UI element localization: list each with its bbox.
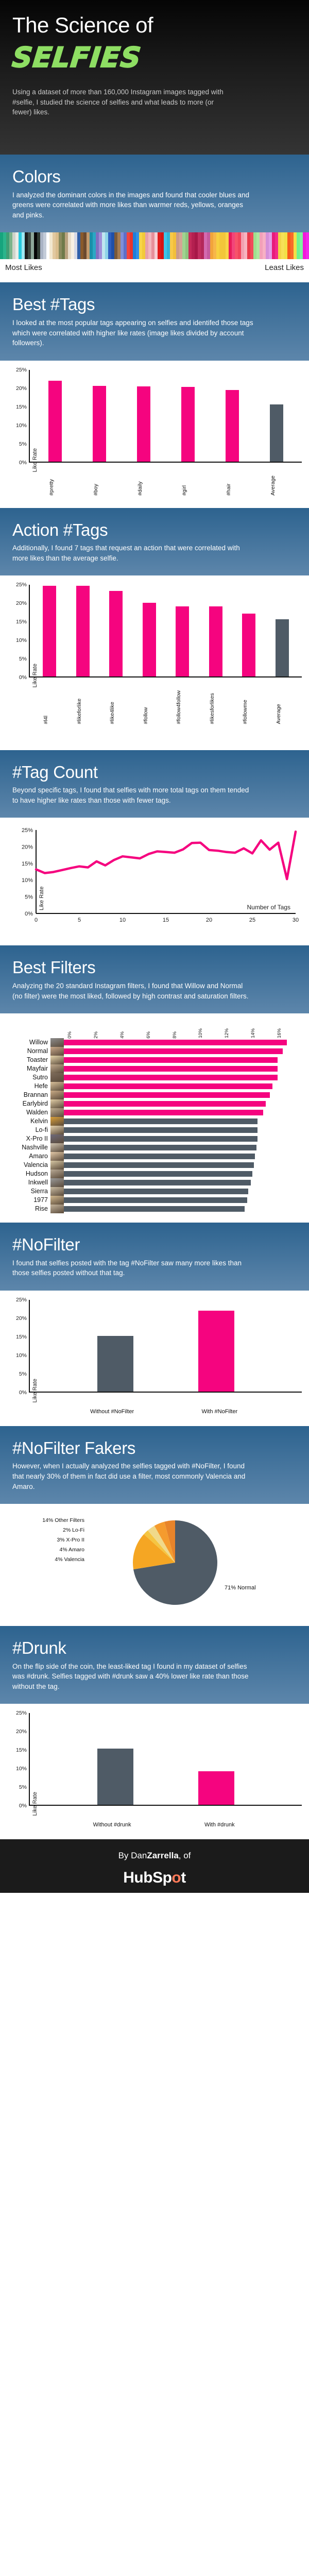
filter-bar xyxy=(64,1066,278,1072)
x-labels-drunk: Without #drunkWith #drunk xyxy=(7,1819,302,1836)
colors-section: Colors I analyzed the dominant colors in… xyxy=(0,155,309,232)
filter-row: Valencia xyxy=(6,1161,303,1170)
best-tags-body: I looked at the most popular tags appear… xyxy=(12,318,254,348)
filter-bar xyxy=(64,1127,257,1133)
filter-name: Sutro xyxy=(6,1073,50,1082)
filter-row: Nashville xyxy=(6,1143,303,1152)
bar xyxy=(226,390,239,462)
filter-bar xyxy=(64,1197,247,1203)
axis-tick: 5% xyxy=(19,1784,27,1790)
filter-name: Walden xyxy=(6,1108,50,1117)
y-axis-label-nofilter: Like Rate xyxy=(32,1379,38,1402)
bar xyxy=(97,1749,133,1805)
x-labels-best-tags: #pretty#boy#daily#girl#hairAverage xyxy=(7,476,302,496)
nofilter-fakers-chart: 14% Other Filters2% Lo-Fi3% X-Pro II4% A… xyxy=(0,1504,309,1626)
filter-bar xyxy=(64,1162,254,1168)
x-tick-label: 16% xyxy=(277,1028,282,1038)
axis-tick: 10% xyxy=(16,1766,27,1772)
filter-track xyxy=(64,1082,303,1091)
filter-track xyxy=(64,1047,303,1056)
filter-track xyxy=(64,1143,303,1152)
x-tick-label: 8% xyxy=(172,1031,178,1039)
y-axis-label-best-tags: Like Rate xyxy=(32,448,38,472)
filter-name: Valencia xyxy=(6,1161,50,1170)
filter-track xyxy=(64,1056,303,1064)
author-prefix: By Dan xyxy=(118,1851,147,1860)
filter-thumbnail xyxy=(50,1099,64,1108)
best-filters-chart: 0%2%4%6%8%10%12%14%16% WillowNormalToast… xyxy=(0,1013,309,1223)
action-tags-section: Action #Tags Additionally, I found 7 tag… xyxy=(0,508,309,576)
axis-tick: 15% xyxy=(16,619,27,625)
filter-thumbnail xyxy=(50,1064,64,1073)
axis-tick: 20 xyxy=(206,917,212,923)
x-tick-label: 12% xyxy=(224,1028,230,1038)
filter-name: Amaro xyxy=(6,1152,50,1161)
y-axis-label-action-tags: Like Rate xyxy=(32,664,38,687)
hero-wordmark: SELFIES xyxy=(11,41,143,74)
hero-section: The Science of SELFIES Using a dataset o… xyxy=(0,0,309,155)
tag-count-body: Beyond specific tags, I found that selfi… xyxy=(12,785,254,805)
color-swatch xyxy=(306,232,309,259)
filter-row: Sierra xyxy=(6,1187,303,1196)
filter-name: Nashville xyxy=(6,1143,50,1152)
bars-best-tags xyxy=(30,370,302,463)
filter-track xyxy=(64,1178,303,1187)
filter-row: Lo-fi xyxy=(6,1126,303,1134)
filter-thumbnail xyxy=(50,1196,64,1205)
filter-thumbnail xyxy=(50,1108,64,1117)
bar xyxy=(97,1336,133,1392)
axis-tick: 20% xyxy=(16,1728,27,1735)
filter-row: Brannan xyxy=(6,1091,303,1099)
filter-thumbnail xyxy=(50,1170,64,1178)
x-tick-label: #boy xyxy=(93,476,106,496)
filter-bar xyxy=(64,1136,257,1142)
page-title: The Science of xyxy=(12,14,297,36)
filter-rows: WillowNormalToasterMayfairSutroHefeBrann… xyxy=(6,1038,303,1213)
nofilter-fakers-section: #NoFilter Fakers However, when I actuall… xyxy=(0,1426,309,1504)
axis-tick: 15% xyxy=(22,861,33,867)
bars-nofilter xyxy=(30,1300,302,1393)
filter-track xyxy=(64,1108,303,1117)
nofilter-heading: #NoFilter xyxy=(12,1236,297,1254)
axis-tick: 30 xyxy=(293,917,299,923)
axis-tick: 25 xyxy=(249,917,255,923)
filter-row: Sutro xyxy=(6,1073,303,1082)
x-ticks-best-filters: 0%2%4%6%8%10%12%14%16% xyxy=(67,1021,303,1038)
best-filters-heading: Best Filters xyxy=(12,959,297,977)
axis-tick: 25% xyxy=(16,1297,27,1303)
tag-count-heading: #Tag Count xyxy=(12,764,297,782)
filter-thumbnail xyxy=(50,1152,64,1161)
filter-name: Inkwell xyxy=(6,1178,50,1187)
filter-thumbnail xyxy=(50,1205,64,1213)
axis-tick: 0% xyxy=(25,911,33,917)
filter-thumbnail xyxy=(50,1073,64,1082)
filter-track xyxy=(64,1187,303,1196)
filter-track xyxy=(64,1205,303,1213)
x-tick-label: #pretty xyxy=(48,476,62,496)
filter-row: Walden xyxy=(6,1108,303,1117)
x-tick-label: #like4like xyxy=(109,690,123,724)
filter-bar xyxy=(64,1057,278,1063)
filter-thumbnail xyxy=(50,1038,64,1047)
bar xyxy=(270,404,283,462)
x-tick-label: #l4l xyxy=(43,690,56,724)
x-tick-label: #likeforlike xyxy=(76,690,90,724)
author-credit: By DanZarrella, of xyxy=(0,1851,309,1861)
axis-tick: 25% xyxy=(16,1710,27,1716)
axis-tick: 15% xyxy=(16,404,27,410)
pie-legend-item: 3% X-Pro II xyxy=(7,1537,84,1543)
colors-heading: Colors xyxy=(12,168,297,186)
filter-track xyxy=(64,1038,303,1047)
x-tick-label: 2% xyxy=(93,1031,99,1039)
filter-bar xyxy=(64,1118,257,1124)
color-stripe-labels: Most Likes Least Likes xyxy=(0,259,309,282)
bar xyxy=(76,586,90,677)
filter-bar xyxy=(64,1189,248,1194)
axis-tick: 0% xyxy=(19,460,27,466)
filter-row: Rise xyxy=(6,1205,303,1213)
pie-legend: 14% Other Filters2% Lo-Fi3% X-Pro II4% A… xyxy=(7,1517,84,1566)
filter-name: Normal xyxy=(6,1047,50,1056)
color-stripe-chart xyxy=(0,232,309,259)
filter-thumbnail xyxy=(50,1047,64,1056)
axis-tick: 25% xyxy=(16,582,27,588)
bar xyxy=(198,1311,234,1392)
drunk-heading: #Drunk xyxy=(12,1639,297,1657)
filter-name: Sierra xyxy=(6,1187,50,1196)
filter-bar xyxy=(64,1180,251,1185)
least-likes-label: Least Likes xyxy=(265,263,304,272)
filter-track xyxy=(64,1099,303,1108)
x-tick-label: #follow4follow xyxy=(176,690,189,724)
filter-bar xyxy=(64,1171,252,1177)
axis-tick: 0 xyxy=(35,917,38,923)
bars-drunk xyxy=(30,1713,302,1806)
hero-subtitle: Using a dataset of more than 160,000 Ins… xyxy=(12,87,234,117)
y-axis-action-tags: 0%5%10%15%20%25% xyxy=(7,585,30,677)
axis-tick: 5% xyxy=(25,894,33,901)
best-tags-heading: Best #Tags xyxy=(12,296,297,314)
line-series xyxy=(36,832,296,879)
tag-count-section: #Tag Count Beyond specific tags, I found… xyxy=(0,750,309,818)
x-tick-label: #daily xyxy=(137,476,150,496)
bar xyxy=(93,386,106,462)
best-tags-chart: 0%5%10%15%20%25% Like Rate #pretty#boy#d… xyxy=(0,361,309,501)
author-suffix: , of xyxy=(179,1851,191,1860)
filter-track xyxy=(64,1170,303,1178)
filter-name: Willow xyxy=(6,1038,50,1047)
x-tick-label: #followme xyxy=(242,690,255,724)
nofilter-body: I found that selfies posted with the tag… xyxy=(12,1258,254,1278)
footer: By DanZarrella, of HubSpot xyxy=(0,1839,309,1893)
filter-name: Brannan xyxy=(6,1091,50,1099)
y-axis-drunk: 0%5%10%15%20%25% xyxy=(7,1713,30,1806)
axis-tick: 5 xyxy=(78,917,81,923)
axis-tick: 10% xyxy=(16,422,27,429)
colors-body: I analyzed the dominant colors in the im… xyxy=(12,190,254,221)
filter-thumbnail xyxy=(50,1143,64,1152)
best-filters-section: Best Filters Analyzing the 20 standard I… xyxy=(0,945,309,1013)
filter-track xyxy=(64,1117,303,1126)
nofilter-fakers-heading: #NoFilter Fakers xyxy=(12,1439,297,1458)
bar xyxy=(209,606,222,677)
x-tick-label: #girl xyxy=(181,476,195,496)
bar xyxy=(109,591,123,676)
axis-tick: 25% xyxy=(22,827,33,834)
axis-tick: 10 xyxy=(119,917,126,923)
x-axis-label: Number of Tags xyxy=(247,904,291,911)
y-axis-best-tags: 0%5%10%15%20%25% xyxy=(7,370,30,463)
filter-row: Toaster xyxy=(6,1056,303,1064)
nofilter-section: #NoFilter I found that selfies posted wi… xyxy=(0,1223,309,1291)
filter-track xyxy=(64,1134,303,1143)
brand-dot: o xyxy=(171,1869,181,1886)
x-tick-label: #follow xyxy=(143,690,156,724)
brand-part1: HubSp xyxy=(123,1869,171,1886)
bar xyxy=(48,381,62,462)
brand-part2: t xyxy=(181,1869,186,1886)
nofilter-chart: 0%5%10%15%20%25% Like Rate Without #NoFi… xyxy=(0,1291,309,1426)
filter-bar xyxy=(64,1206,245,1212)
bar xyxy=(43,586,56,676)
filter-row: Willow xyxy=(6,1038,303,1047)
x-tick-label: 14% xyxy=(250,1028,256,1038)
drunk-section: #Drunk On the flip side of the coin, the… xyxy=(0,1626,309,1704)
filter-row: Earlybird xyxy=(6,1099,303,1108)
axis-tick: 5% xyxy=(19,656,27,662)
axis-tick: 10% xyxy=(16,637,27,643)
filter-thumbnail xyxy=(50,1117,64,1126)
x-tick-label: 6% xyxy=(146,1031,151,1039)
y-axis-label: Like Rate xyxy=(39,887,45,910)
tag-count-chart: 0%5%10%15%20%25%051015202530Like RateNum… xyxy=(0,818,309,935)
filter-thumbnail xyxy=(50,1091,64,1099)
y-axis-nofilter: 0%5%10%15%20%25% xyxy=(7,1300,30,1393)
filter-row: 1977 xyxy=(6,1196,303,1205)
drunk-chart: 0%5%10%15%20%25% Like Rate Without #drun… xyxy=(0,1704,309,1839)
x-tick-label: Average xyxy=(276,690,289,724)
x-labels-action-tags: #l4l#likeforlike#like4like#follow#follow… xyxy=(7,690,302,724)
bar xyxy=(242,614,255,676)
x-tick-label: Without #drunk xyxy=(84,1822,141,1829)
filter-row: Hudson xyxy=(6,1170,303,1178)
x-labels-nofilter: Without #NoFilterWith #NoFilter xyxy=(7,1405,302,1423)
x-tick-label: 0% xyxy=(67,1031,73,1039)
filter-thumbnail xyxy=(50,1178,64,1187)
filter-bar xyxy=(64,1048,283,1054)
filter-name: Hefe xyxy=(6,1082,50,1091)
bar xyxy=(176,606,189,677)
axis-tick: 10% xyxy=(16,1352,27,1359)
axis-tick: 10% xyxy=(22,878,33,884)
pie-slice-label: 71% Normal xyxy=(225,1585,256,1591)
filter-bar xyxy=(64,1154,255,1159)
filter-track xyxy=(64,1152,303,1161)
infographic-page: The Science of SELFIES Using a dataset o… xyxy=(0,0,309,1893)
filter-name: 1977 xyxy=(6,1196,50,1205)
filter-thumbnail xyxy=(50,1056,64,1064)
action-tags-chart: 0%5%10%15%20%25% Like Rate #l4l#likeforl… xyxy=(0,575,309,729)
filter-row: Normal xyxy=(6,1047,303,1056)
most-likes-label: Most Likes xyxy=(5,263,42,272)
axis-tick: 20% xyxy=(16,600,27,606)
filter-name: Hudson xyxy=(6,1170,50,1178)
filter-bar xyxy=(64,1110,263,1115)
filter-name: X-Pro II xyxy=(6,1134,50,1143)
x-tick-label: #likesforlikes xyxy=(209,690,222,724)
bars-action-tags xyxy=(30,585,302,677)
filter-name: Mayfair xyxy=(6,1064,50,1073)
drunk-body: On the flip side of the coin, the least-… xyxy=(12,1662,254,1692)
filter-name: Earlybird xyxy=(6,1099,50,1108)
x-tick-label: Without #NoFilter xyxy=(84,1409,141,1416)
filter-name: Toaster xyxy=(6,1056,50,1064)
filter-track xyxy=(64,1196,303,1205)
axis-tick: 5% xyxy=(19,441,27,447)
axis-tick: 25% xyxy=(16,367,27,373)
axis-tick: 5% xyxy=(19,1371,27,1377)
filter-track xyxy=(64,1161,303,1170)
axis-tick: 0% xyxy=(19,674,27,681)
filter-bar xyxy=(64,1075,278,1080)
filter-thumbnail xyxy=(50,1161,64,1170)
filter-track xyxy=(64,1073,303,1082)
filter-bar xyxy=(64,1145,256,1150)
filter-name: Lo-fi xyxy=(6,1126,50,1134)
bar xyxy=(137,386,150,461)
filter-track xyxy=(64,1091,303,1099)
filter-name: Kelvin xyxy=(6,1117,50,1126)
filter-bar xyxy=(64,1083,272,1089)
x-tick-label: With #drunk xyxy=(191,1822,248,1829)
bar xyxy=(198,1771,234,1805)
y-axis-label-drunk: Like Rate xyxy=(32,1792,38,1816)
bar xyxy=(143,603,156,676)
axis-tick: 0% xyxy=(19,1803,27,1809)
x-tick-label: With #NoFilter xyxy=(191,1409,248,1416)
filter-bar xyxy=(64,1101,266,1107)
x-tick-label: 10% xyxy=(198,1028,203,1038)
filter-name: Rise xyxy=(6,1205,50,1213)
filter-thumbnail xyxy=(50,1187,64,1196)
nofilter-fakers-body: However, when I actually analyzed the se… xyxy=(12,1461,254,1492)
filter-row: Mayfair xyxy=(6,1064,303,1073)
filter-track xyxy=(64,1064,303,1073)
brand-logo: HubSpot xyxy=(0,1869,309,1887)
pie-legend-item: 2% Lo-Fi xyxy=(7,1527,84,1533)
best-filters-body: Analyzing the 20 standard Instagram filt… xyxy=(12,981,254,1001)
x-tick-label: #hair xyxy=(226,476,239,496)
filter-thumbnail xyxy=(50,1134,64,1143)
filter-thumbnail xyxy=(50,1126,64,1134)
best-tags-section: Best #Tags I looked at the most popular … xyxy=(0,282,309,360)
x-tick-label: Average xyxy=(270,476,283,496)
pie-legend-item: 4% Amaro xyxy=(7,1547,84,1553)
author-name: Zarrella xyxy=(147,1851,178,1860)
axis-tick: 15% xyxy=(16,1747,27,1753)
filter-row: X-Pro II xyxy=(6,1134,303,1143)
axis-tick: 15 xyxy=(163,917,169,923)
bar xyxy=(276,619,289,676)
action-tags-body: Additionally, I found 7 tags that reques… xyxy=(12,543,254,563)
filter-row: Hefe xyxy=(6,1082,303,1091)
tag-count-svg: 0%5%10%15%20%25%051015202530Like RateNum… xyxy=(7,825,302,933)
x-tick-label: 4% xyxy=(119,1031,125,1039)
axis-tick: 20% xyxy=(16,385,27,392)
bar xyxy=(181,387,195,462)
filter-track xyxy=(64,1126,303,1134)
filter-row: Inkwell xyxy=(6,1178,303,1187)
filter-bar xyxy=(64,1040,287,1045)
axis-tick: 20% xyxy=(22,844,33,851)
axis-tick: 20% xyxy=(16,1315,27,1321)
filter-thumbnail xyxy=(50,1082,64,1091)
pie-legend-item: 4% Valencia xyxy=(7,1556,84,1563)
filter-row: Amaro xyxy=(6,1152,303,1161)
pie-legend-item: 14% Other Filters xyxy=(7,1517,84,1523)
axis-tick: 15% xyxy=(16,1334,27,1340)
filter-row: Kelvin xyxy=(6,1117,303,1126)
action-tags-heading: Action #Tags xyxy=(12,521,297,539)
filter-bar xyxy=(64,1092,270,1098)
axis-tick: 0% xyxy=(19,1389,27,1396)
